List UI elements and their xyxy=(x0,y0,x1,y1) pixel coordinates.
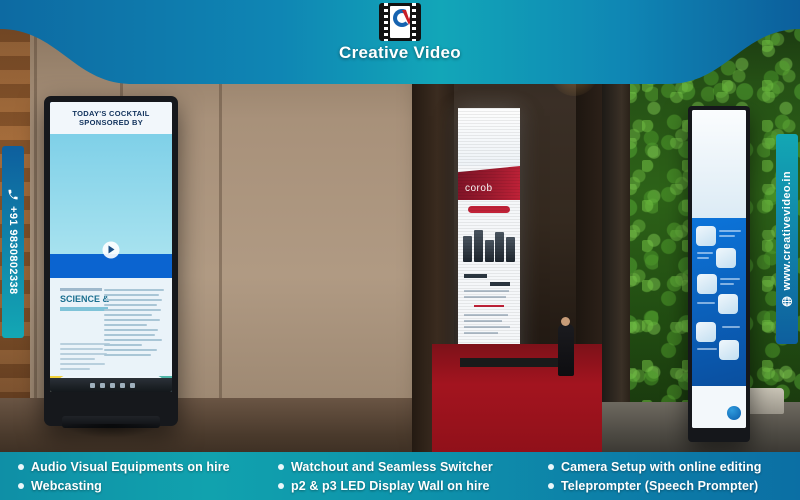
film-strip-logo-icon xyxy=(379,3,421,41)
banquet-wall-background xyxy=(205,0,412,460)
logo-v-letter xyxy=(402,10,410,25)
content-card xyxy=(718,294,738,314)
chandelier xyxy=(542,4,602,96)
website-ribbon[interactable]: www.creativevideo.in xyxy=(776,134,798,344)
service-item: Teleprompter (Speech Prompter) xyxy=(548,479,800,493)
screen-header-banner: TODAY'S COCKTAIL SPONSORED BY xyxy=(50,102,172,134)
photo-panel-led-display-wall: corob xyxy=(412,0,602,460)
standee-screen: arxada SCIENCE & xyxy=(50,102,172,392)
content-card xyxy=(716,248,736,268)
red-carpet xyxy=(432,344,602,460)
website-ribbon-content: www.creativevideo.in xyxy=(781,171,793,307)
photo-panel-digital-standee-houses: arxada SCIENCE & xyxy=(0,0,205,460)
phone-ribbon[interactable]: +91 9830802338 xyxy=(2,146,24,338)
promo-canvas: arxada SCIENCE & xyxy=(0,0,800,500)
services-bar: Audio Visual Equipments on hire Webcasti… xyxy=(0,452,800,500)
dark-pillar xyxy=(602,0,630,460)
website-url: www.creativevideo.in xyxy=(781,171,793,290)
phone-number: +91 9830802338 xyxy=(7,206,19,295)
globe-icon xyxy=(781,295,793,307)
cocktail-header-line2: SPONSORED BY xyxy=(54,118,168,127)
bullet-icon xyxy=(548,464,554,470)
wall-seam xyxy=(34,0,37,460)
screen-footer xyxy=(692,386,746,428)
standee-screen xyxy=(692,110,746,428)
photo-panel-digital-standee-chemistry: TODAY'S COCKTAIL SPONSORED BY Chemicalou… xyxy=(205,0,412,460)
standee-base xyxy=(62,416,160,428)
poster-body-lines xyxy=(60,340,110,373)
service-label: Camera Setup with online editing xyxy=(561,460,761,474)
content-card xyxy=(696,322,716,342)
wall-seam xyxy=(219,0,222,460)
led-pixel-scanlines xyxy=(458,108,520,376)
service-item: p2 & p3 LED Display Wall on hire xyxy=(278,479,544,493)
screen-blue-content xyxy=(692,218,746,386)
poster-text-area: SCIENCE & xyxy=(50,278,172,376)
brand-name: Creative Video xyxy=(339,43,461,63)
bullet-icon xyxy=(18,464,24,470)
photo-collage: arxada SCIENCE & xyxy=(0,0,800,460)
carpet-strip xyxy=(460,358,564,367)
service-item: Webcasting xyxy=(18,479,272,493)
phone-ribbon-content: +91 9830802338 xyxy=(7,189,19,295)
photo-panel-tall-led-standee xyxy=(602,0,800,460)
content-card xyxy=(696,226,716,246)
poster-sky xyxy=(50,134,172,254)
service-label: Watchout and Seamless Switcher xyxy=(291,460,493,474)
windows-taskbar[interactable] xyxy=(50,378,172,392)
play-button-overlay[interactable] xyxy=(103,242,120,259)
bullet-icon xyxy=(18,483,24,489)
floor xyxy=(205,398,412,460)
tall-led-standee xyxy=(688,106,750,442)
services-column-3: Camera Setup with online editing Telepro… xyxy=(544,452,800,500)
service-label: Audio Visual Equipments on hire xyxy=(31,460,230,474)
poster-column-lines xyxy=(104,286,164,359)
service-label: Teleprompter (Speech Prompter) xyxy=(561,479,758,493)
bullet-icon xyxy=(278,464,284,470)
bullet-icon xyxy=(278,483,284,489)
service-item: Watchout and Seamless Switcher xyxy=(278,460,544,474)
bullet-icon xyxy=(548,483,554,489)
led-display-wall: corob xyxy=(458,108,520,376)
person-silhouette xyxy=(558,324,574,376)
screen-top-area xyxy=(692,110,746,218)
service-item: Audio Visual Equipments on hire xyxy=(18,460,272,474)
service-label: p2 & p3 LED Display Wall on hire xyxy=(291,479,490,493)
service-label: Webcasting xyxy=(31,479,102,493)
phone-icon xyxy=(7,189,19,201)
content-card xyxy=(697,274,717,294)
services-column-2: Watchout and Seamless Switcher p2 & p3 L… xyxy=(272,452,544,500)
cocktail-header-line1: TODAY'S COCKTAIL xyxy=(54,109,168,118)
services-column-1: Audio Visual Equipments on hire Webcasti… xyxy=(0,452,272,500)
digital-standee-kiosk: arxada SCIENCE & xyxy=(44,96,178,426)
service-item: Camera Setup with online editing xyxy=(548,460,800,474)
content-card xyxy=(719,340,739,360)
planter xyxy=(744,388,784,414)
brand-logo-block[interactable]: Creative Video xyxy=(339,3,461,63)
